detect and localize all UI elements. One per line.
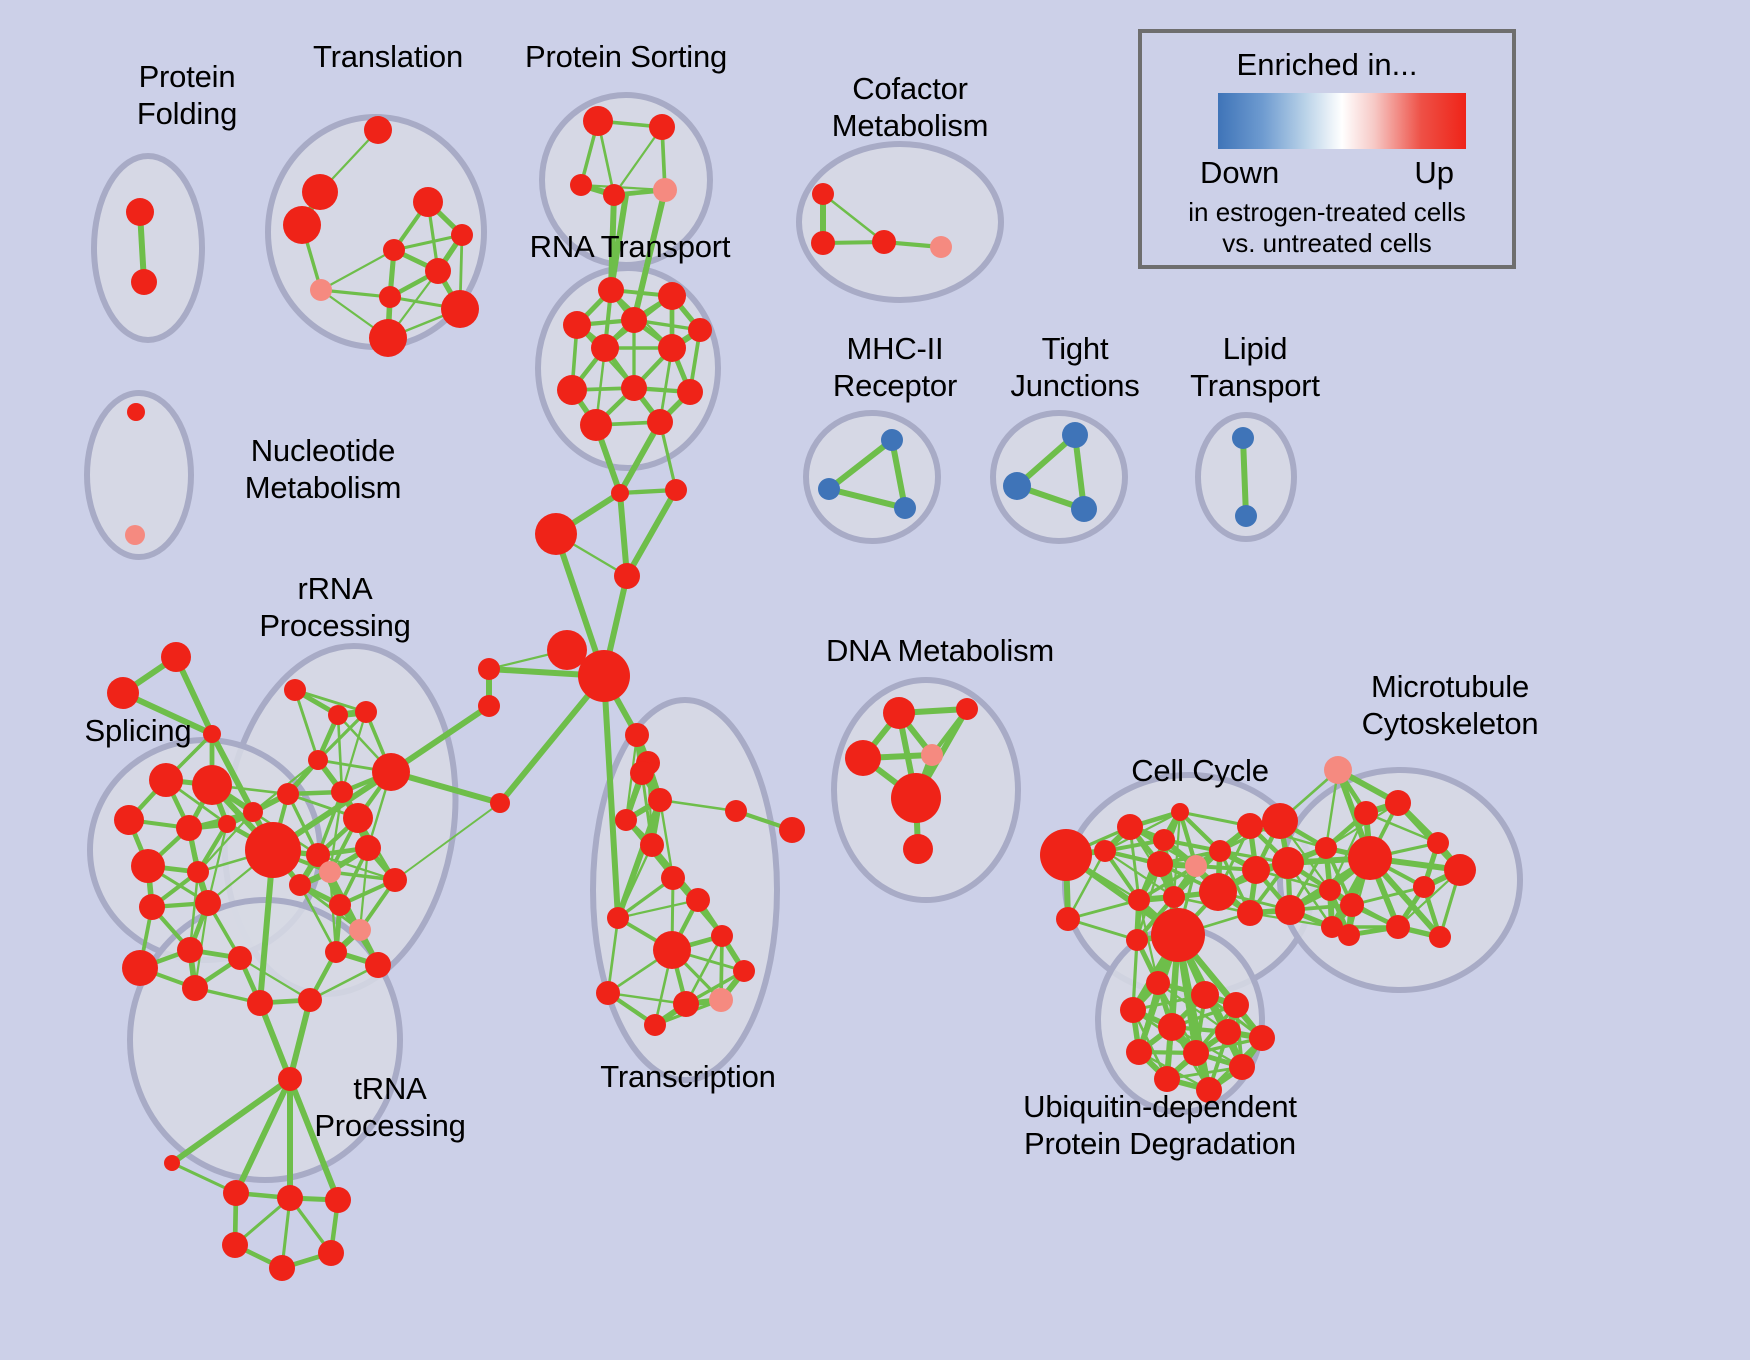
network-node[interactable] [883,697,915,729]
network-node[interactable] [182,975,208,1001]
network-node[interactable] [818,478,840,500]
network-node[interactable] [1354,801,1378,825]
network-node[interactable] [187,861,209,883]
network-node[interactable] [725,800,747,822]
network-node[interactable] [903,834,933,864]
network-node[interactable] [1223,992,1249,1018]
network-node[interactable] [1183,1040,1209,1066]
network-node[interactable] [343,803,373,833]
legend-panel: Enriched in... Down Up in estrogen-treat… [1138,29,1516,269]
network-node[interactable] [1196,1077,1222,1103]
network-node[interactable] [1232,427,1254,449]
network-node[interactable] [125,525,145,545]
network-node[interactable] [611,484,629,502]
network-node[interactable] [1191,981,1219,1009]
cluster-hull-cofactor-metabolism [799,144,1001,300]
network-node[interactable] [1158,1013,1186,1041]
network-node[interactable] [578,650,630,702]
network-node[interactable] [580,409,612,441]
network-node[interactable] [1272,847,1304,879]
network-node[interactable] [845,740,881,776]
network-node[interactable] [644,1014,666,1036]
network-node[interactable] [364,116,392,144]
network-node[interactable] [161,642,191,672]
network-node[interactable] [1237,813,1263,839]
network-node[interactable] [1117,814,1143,840]
network-node[interactable] [139,894,165,920]
network-node[interactable] [891,773,941,823]
network-node[interactable] [329,894,351,916]
network-node[interactable] [688,318,712,342]
network-node[interactable] [686,888,710,912]
network-node[interactable] [596,981,620,1005]
network-node[interactable] [1315,837,1337,859]
network-node[interactable] [1235,505,1257,527]
network-node[interactable] [1154,1066,1180,1092]
network-node[interactable] [563,311,591,339]
network-node[interactable] [921,744,943,766]
network-node[interactable] [733,960,755,982]
network-node[interactable] [413,187,443,217]
network-node[interactable] [658,282,686,310]
network-node[interactable] [131,269,157,295]
network-node[interactable] [451,224,473,246]
network-node[interactable] [1429,926,1451,948]
network-node[interactable] [122,950,158,986]
network-node[interactable] [245,822,301,878]
cluster-hull-rna-transport [538,268,718,468]
network-node[interactable] [598,277,624,303]
network-node[interactable] [298,988,322,1012]
network-node[interactable] [647,409,673,435]
network-node[interactable] [247,990,273,1016]
network-node[interactable] [478,658,500,680]
network-node[interactable] [621,375,647,401]
network-node[interactable] [222,1232,248,1258]
network-node[interactable] [1319,879,1341,901]
network-node[interactable] [319,861,341,883]
network-node[interactable] [1209,840,1231,862]
network-node[interactable] [218,815,236,833]
network-node[interactable] [277,783,299,805]
network-node[interactable] [1163,886,1185,908]
network-node[interactable] [1249,1025,1275,1051]
network-node[interactable] [1348,836,1392,880]
network-node[interactable] [490,793,510,813]
network-node[interactable] [195,890,221,916]
network-edge-long [1243,438,1246,516]
network-node[interactable] [289,874,311,896]
network-node[interactable] [1126,1039,1152,1065]
network-node[interactable] [355,701,377,723]
network-node[interactable] [557,375,587,405]
network-node[interactable] [1229,1054,1255,1080]
network-node[interactable] [625,723,649,747]
network-edge-long [611,195,614,290]
network-node[interactable] [591,334,619,362]
network-node[interactable] [872,230,896,254]
network-node[interactable] [615,809,637,831]
network-node[interactable] [1444,854,1476,886]
network-node[interactable] [1242,856,1270,884]
network-node[interactable] [570,174,592,196]
network-node[interactable] [648,788,672,812]
network-node[interactable] [284,679,306,701]
cluster-hull-mhc-ii-receptor [806,413,938,541]
network-node[interactable] [665,479,687,501]
network-node[interactable] [1126,929,1148,951]
network-node[interactable] [661,866,685,890]
network-node[interactable] [383,239,405,261]
network-node[interactable] [956,698,978,720]
network-node[interactable] [779,817,805,843]
network-node[interactable] [1040,829,1092,881]
network-node[interactable] [535,513,577,555]
network-node[interactable] [930,236,952,258]
network-node[interactable] [369,319,407,357]
network-node[interactable] [379,286,401,308]
network-node[interactable] [649,114,675,140]
network-node[interactable] [811,231,835,255]
network-node[interactable] [203,725,221,743]
cluster-hull-protein-sorting [542,95,710,265]
network-node[interactable] [1120,997,1146,1023]
network-node[interactable] [1385,790,1411,816]
network-node[interactable] [269,1255,295,1281]
network-node[interactable] [1427,832,1449,854]
network-node[interactable] [621,307,647,333]
network-node[interactable] [1146,971,1170,995]
network-node[interactable] [614,563,640,589]
network-node[interactable] [325,1187,351,1213]
network-node[interactable] [1386,915,1410,939]
network-node[interactable] [372,753,410,791]
network-node[interactable] [673,991,699,1017]
network-node[interactable] [1237,900,1263,926]
network-node[interactable] [881,429,903,451]
network-node[interactable] [1340,893,1364,917]
legend-high-label: Up [1414,155,1454,191]
network-node[interactable] [325,941,347,963]
network-node[interactable] [131,849,165,883]
network-node[interactable] [441,290,479,328]
network-node[interactable] [709,988,733,1012]
network-node[interactable] [365,952,391,978]
network-node[interactable] [114,805,144,835]
network-node[interactable] [1324,756,1352,784]
network-node[interactable] [383,868,407,892]
network-node[interactable] [107,677,139,709]
network-node[interactable] [355,835,381,861]
network-node[interactable] [1003,472,1031,500]
network-node[interactable] [1275,895,1305,925]
network-node[interactable] [331,781,353,803]
legend-color-gradient-bar [1218,93,1466,149]
legend-title: Enriched in... [1142,47,1512,83]
network-node[interactable] [328,705,348,725]
network-node[interactable] [425,258,451,284]
network-node[interactable] [653,931,691,969]
network-node[interactable] [1199,873,1237,911]
network-node[interactable] [478,695,500,717]
network-node[interactable] [1151,908,1205,962]
network-node[interactable] [177,937,203,963]
network-node[interactable] [1262,803,1298,839]
network-node[interactable] [1147,851,1173,877]
network-node[interactable] [349,919,371,941]
network-node[interactable] [1071,496,1097,522]
network-node[interactable] [164,1155,180,1171]
network-node[interactable] [658,334,686,362]
network-node[interactable] [318,1240,344,1266]
network-node[interactable] [176,815,202,841]
network-node[interactable] [630,761,654,785]
network-node[interactable] [149,763,183,797]
network-node[interactable] [1128,889,1150,911]
network-node[interactable] [1062,422,1088,448]
network-node[interactable] [302,174,338,210]
network-node[interactable] [126,198,154,226]
network-node[interactable] [677,379,703,405]
network-node[interactable] [1056,907,1080,931]
network-node[interactable] [640,833,664,857]
network-node[interactable] [308,750,328,770]
network-node[interactable] [228,946,252,970]
network-node[interactable] [653,178,677,202]
network-node[interactable] [1215,1019,1241,1045]
network-node[interactable] [1185,855,1207,877]
legend-subtitle: in estrogen-treated cells vs. untreated … [1142,197,1512,259]
cluster-hull-protein-folding [94,156,202,340]
network-node[interactable] [127,403,145,421]
network-node[interactable] [310,279,332,301]
network-node[interactable] [1171,803,1189,821]
network-node[interactable] [1153,829,1175,851]
network-node[interactable] [603,184,625,206]
network-node[interactable] [1413,876,1435,898]
network-node[interactable] [243,802,263,822]
network-node[interactable] [583,106,613,136]
network-node[interactable] [277,1185,303,1211]
network-node[interactable] [894,497,916,519]
legend-low-label: Down [1200,155,1279,191]
network-node[interactable] [812,183,834,205]
network-node[interactable] [192,765,232,805]
network-node[interactable] [278,1067,302,1091]
network-edge-long [627,490,676,576]
network-node[interactable] [283,206,321,244]
network-node[interactable] [223,1180,249,1206]
network-node[interactable] [1094,840,1116,862]
network-node[interactable] [607,907,629,929]
network-figure: Protein FoldingTranslationProtein Sortin… [0,0,1750,1360]
network-node[interactable] [711,925,733,947]
network-node[interactable] [1338,924,1360,946]
